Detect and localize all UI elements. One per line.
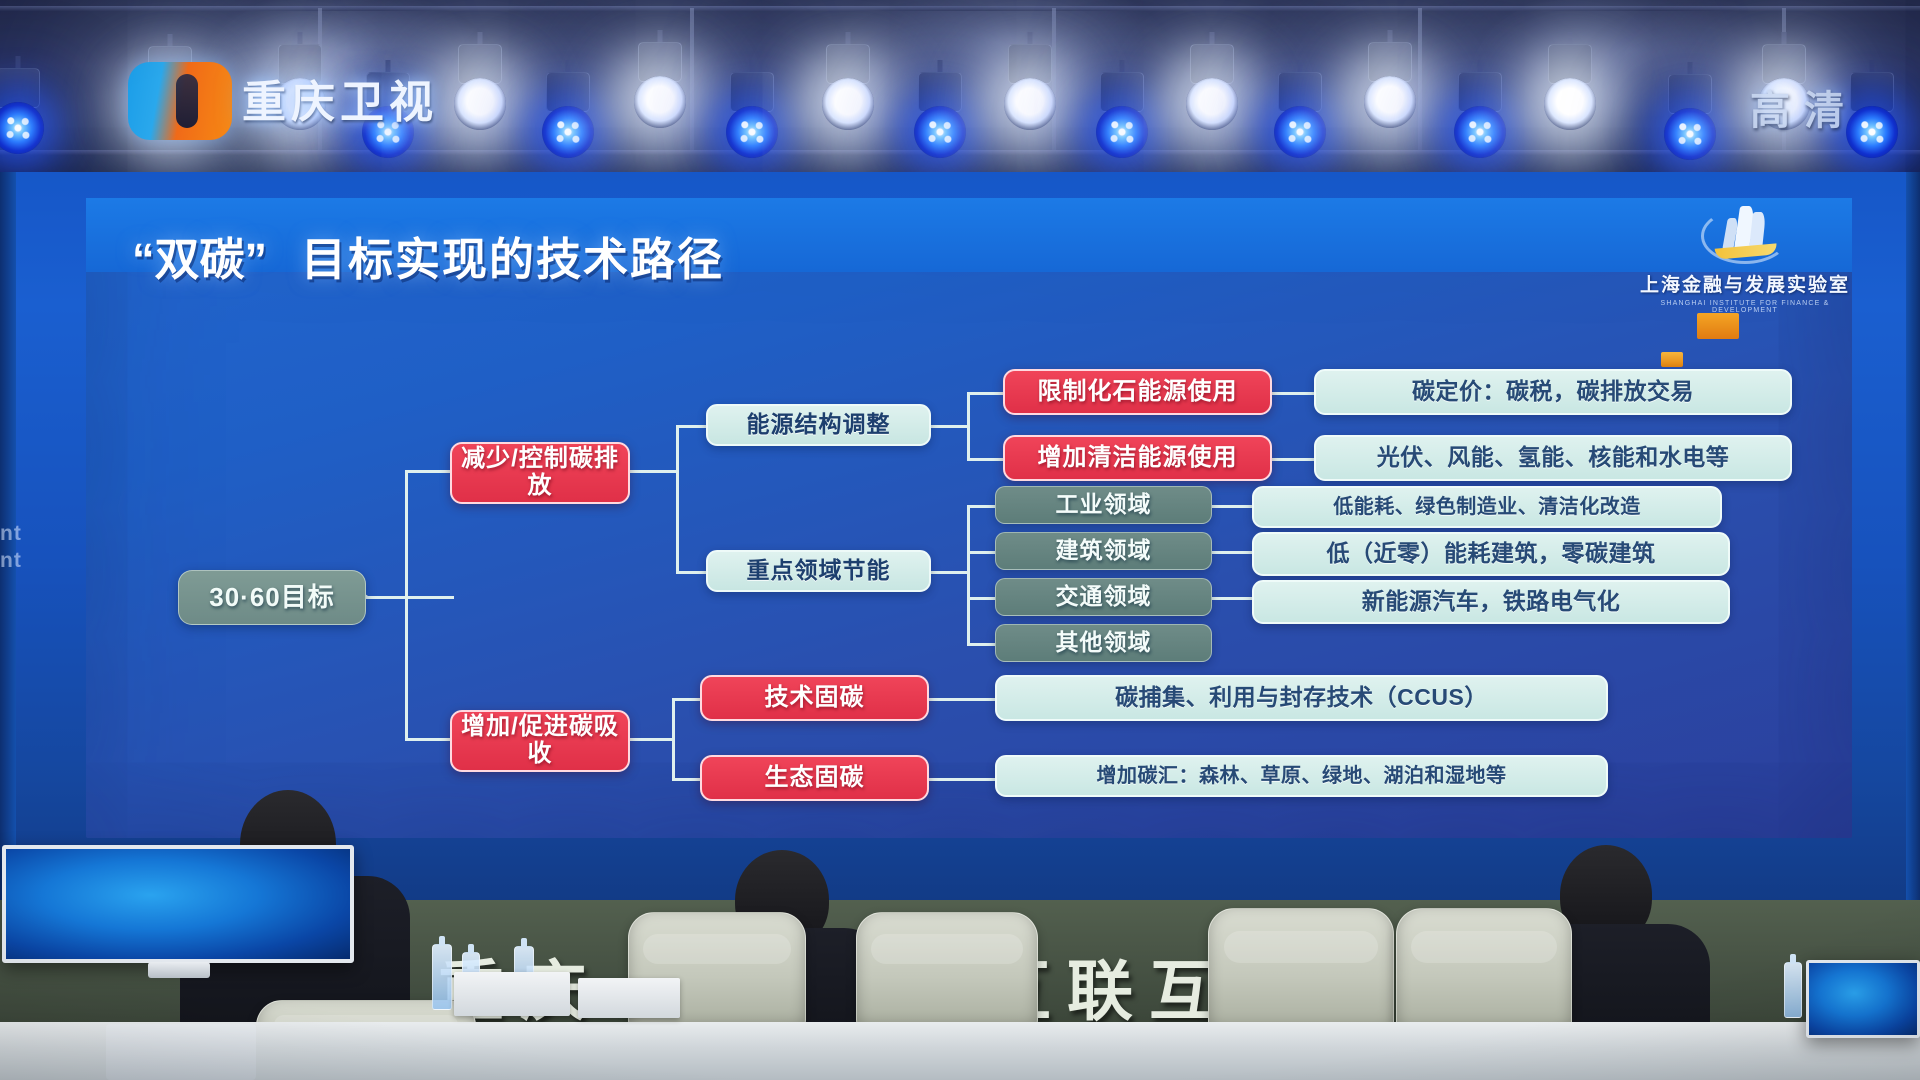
connector-to-branch-2 bbox=[405, 738, 450, 741]
sticky-note-large bbox=[1697, 313, 1739, 339]
connector-to-clean bbox=[967, 458, 1003, 461]
node-key-sector-saving[interactable]: 重点领域节能 bbox=[706, 550, 931, 592]
page-title: “双碳”目标实现的技术路径 bbox=[132, 223, 724, 288]
node-energy-structure[interactable]: 能源结构调整 bbox=[706, 404, 931, 446]
connector-clean-detail bbox=[1272, 458, 1314, 461]
connector-to-branch-1 bbox=[405, 470, 450, 473]
connector-to-fossil bbox=[967, 392, 1003, 395]
connector-branch1-out bbox=[630, 470, 678, 473]
overlay-text-1: nt bbox=[0, 522, 22, 546]
connector-to-tech bbox=[672, 698, 702, 701]
node-eco-carbon-fixation[interactable]: 生态固碳 bbox=[700, 755, 929, 801]
connector-energy-out bbox=[931, 425, 969, 428]
presenter-monitor-left[interactable] bbox=[2, 845, 354, 963]
channel-logo-icon bbox=[128, 62, 232, 140]
node-building-sector[interactable]: 建筑领域 bbox=[995, 532, 1212, 570]
node-increase-clean[interactable]: 增加清洁能源使用 bbox=[1003, 435, 1272, 481]
presenter-monitor-right[interactable] bbox=[1806, 960, 1920, 1038]
connector-branch1-split bbox=[676, 425, 679, 573]
sticky-note-small bbox=[1661, 352, 1683, 367]
connector-sector-out bbox=[931, 571, 969, 574]
connector-to-industry bbox=[967, 505, 995, 508]
connector-branch2-out bbox=[630, 738, 674, 741]
sailboat-logo-icon bbox=[1697, 202, 1793, 268]
connector-building-detail bbox=[1212, 551, 1252, 554]
connector-tech-detail bbox=[929, 698, 995, 701]
broadcast-frame: “双碳”目标实现的技术路径 上海金融与发展实验室 SHANGHAI INSTIT… bbox=[0, 0, 1920, 1080]
title-quoted-part: “双碳” bbox=[132, 234, 267, 285]
hd-badge: 高清 bbox=[1750, 78, 1858, 136]
organization-name-cn: 上海金融与发展实验室 bbox=[1630, 270, 1860, 297]
connector-to-energy bbox=[676, 425, 706, 428]
overlay-text-2: nt bbox=[0, 549, 22, 573]
detail-carbon-pricing[interactable]: 碳定价：碳税，碳排放交易 bbox=[1314, 369, 1792, 415]
detail-industry[interactable]: 低能耗、绿色制造业、清洁化改造 bbox=[1252, 486, 1722, 528]
water-bottle-1 bbox=[432, 944, 452, 1010]
chair-2 bbox=[856, 912, 1038, 1030]
node-limit-fossil[interactable]: 限制化石能源使用 bbox=[1003, 369, 1272, 415]
node-transport-sector[interactable]: 交通领域 bbox=[995, 578, 1212, 616]
connector-to-building bbox=[967, 551, 995, 554]
detail-building[interactable]: 低（近零）能耗建筑，零碳建筑 bbox=[1252, 532, 1730, 576]
monitor-base-left bbox=[106, 1024, 256, 1080]
node-other-sector[interactable]: 其他领域 bbox=[995, 624, 1212, 662]
detail-clean-sources[interactable]: 光伏、风能、氢能、核能和水电等 bbox=[1314, 435, 1792, 481]
chair-4 bbox=[1396, 908, 1572, 1032]
node-industry-sector[interactable]: 工业领域 bbox=[995, 486, 1212, 524]
channel-name: 重庆卫视 bbox=[242, 66, 438, 130]
connector-to-other bbox=[967, 643, 995, 646]
node-tech-carbon-fixation[interactable]: 技术固碳 bbox=[700, 675, 929, 721]
node-root-goal[interactable]: 30·60目标 bbox=[178, 570, 366, 625]
connector-energy-split bbox=[967, 392, 970, 460]
nameplate-2 bbox=[578, 978, 680, 1018]
detail-transport[interactable]: 新能源汽车，铁路电气化 bbox=[1252, 580, 1730, 624]
organization-logo: 上海金融与发展实验室 SHANGHAI INSTITUTE FOR FINANC… bbox=[1630, 202, 1860, 306]
connector-to-transport bbox=[967, 597, 995, 600]
connector-eco-detail bbox=[929, 778, 995, 781]
conference-table bbox=[0, 1022, 1920, 1080]
connector-industry-detail bbox=[1212, 505, 1252, 508]
connector-branch2-split bbox=[672, 698, 675, 780]
detail-carbon-sink[interactable]: 增加碳汇：森林、草原、绿地、湖泊和湿地等 bbox=[995, 755, 1608, 797]
monitor-stand-left bbox=[148, 962, 210, 978]
connector-to-eco bbox=[672, 778, 702, 781]
connector-transport-detail bbox=[1212, 597, 1252, 600]
water-bottle-4 bbox=[1784, 962, 1802, 1018]
wall-edge-right bbox=[1906, 172, 1920, 912]
connector-root-trunk bbox=[366, 596, 454, 599]
organization-name-en: SHANGHAI INSTITUTE FOR FINANCE & DEVELOP… bbox=[1630, 300, 1860, 314]
chair-3 bbox=[1208, 908, 1394, 1032]
connector-to-sector bbox=[676, 571, 706, 574]
nameplate-1 bbox=[454, 972, 570, 1016]
connector-fossil-detail bbox=[1272, 392, 1314, 395]
connector-trunk-vertical bbox=[405, 471, 408, 739]
connector-sector-split bbox=[967, 505, 970, 645]
node-reduce-emissions[interactable]: 减少/控制碳排放 bbox=[450, 442, 630, 504]
detail-ccus[interactable]: 碳捕集、利用与封存技术（CCUS） bbox=[995, 675, 1608, 721]
title-main-part: 目标实现的技术路径 bbox=[301, 234, 724, 285]
node-increase-absorption[interactable]: 增加/促进碳吸收 bbox=[450, 710, 630, 772]
